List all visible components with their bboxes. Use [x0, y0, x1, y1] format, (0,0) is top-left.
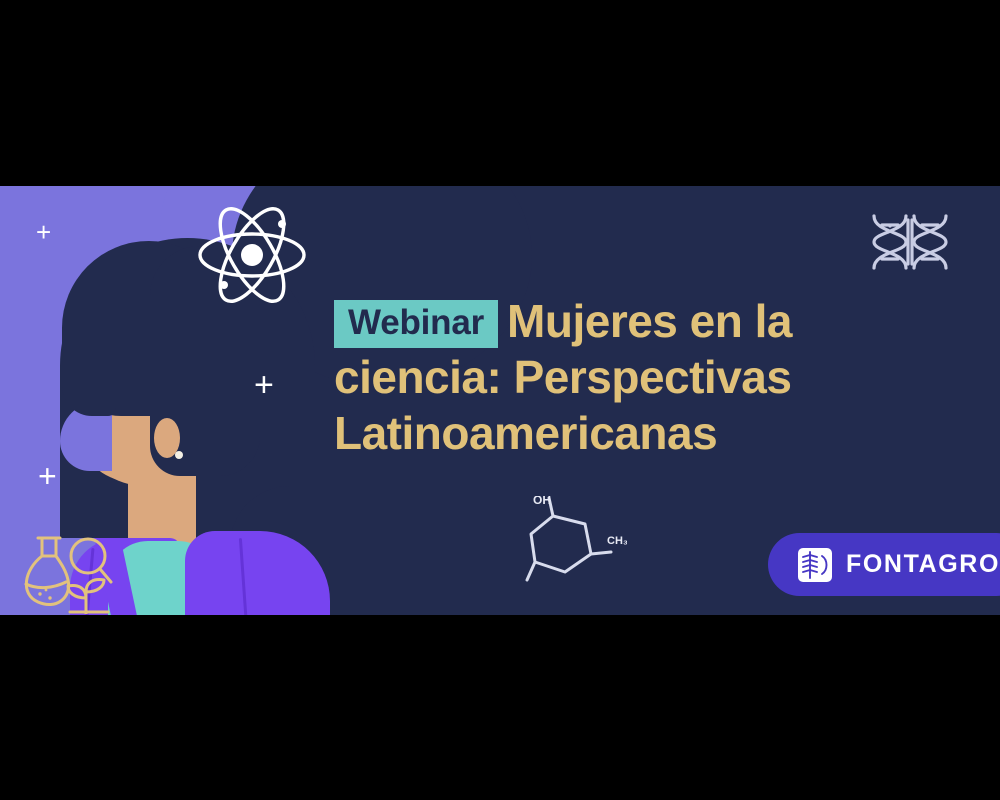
fontagro-logo[interactable]: FONTAGRO [768, 533, 1000, 596]
molecule-label-ch3: CH₃ [607, 535, 627, 547]
sparkle-plus-icon: + [38, 460, 57, 492]
headline-line-3: Latinoamericanas [334, 407, 717, 459]
headline-line-1: Mujeres en la [507, 295, 792, 347]
screenshot-stage: + + + [0, 0, 1000, 800]
molecule-label-oh: OH [533, 496, 551, 507]
webinar-banner: + + + [0, 186, 1000, 615]
hair-sideburn-shape [62, 336, 116, 416]
sparkle-plus-icon: + [36, 219, 51, 245]
molecule-icon: OH CH₃ [515, 496, 627, 595]
atom-icon [196, 204, 308, 311]
flask-magnifier-plant-icon [12, 528, 116, 615]
dna-helix-icon [862, 212, 958, 277]
sparkle-plus-icon: + [254, 368, 274, 402]
banner-headline: WebinarMujeres en laciencia: Perspectiva… [334, 293, 934, 461]
pearl-earring-icon [175, 451, 183, 459]
headline-line-2: ciencia: Perspectivas [334, 351, 791, 403]
fontagro-wordmark: FONTAGRO [846, 550, 1000, 579]
webinar-badge: Webinar [334, 300, 498, 348]
fontagro-wheat-icon [798, 548, 832, 582]
